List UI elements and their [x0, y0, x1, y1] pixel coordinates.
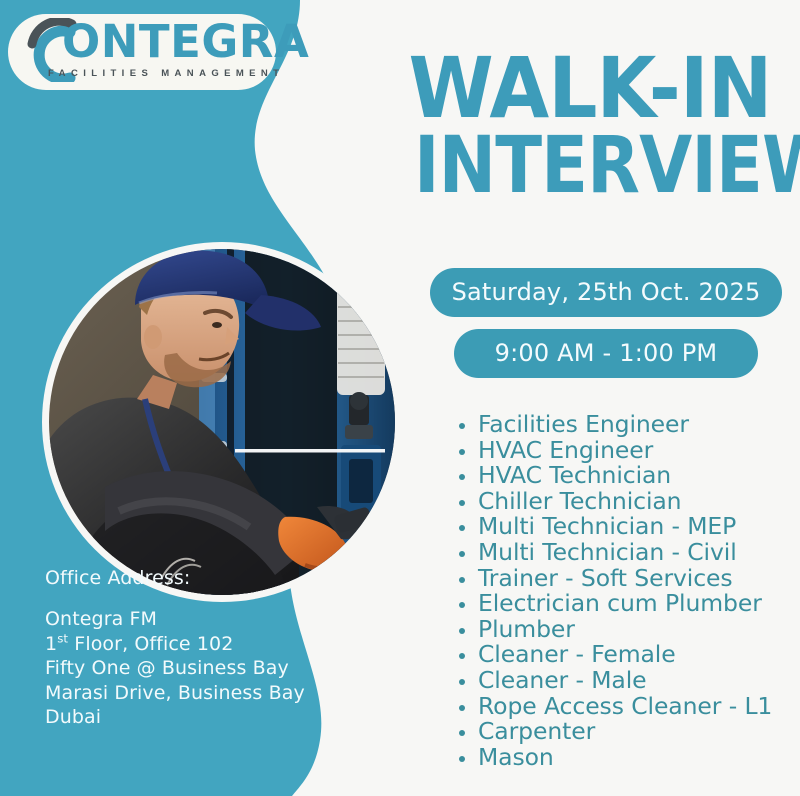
list-item: Plumber — [452, 617, 772, 643]
list-item: Multi Technician - MEP — [452, 514, 772, 540]
office-address-block: Office Address: Ontegra FM 1st Floor, Of… — [45, 566, 305, 730]
list-item: Rope Access Cleaner - L1 — [452, 694, 772, 720]
list-item: Multi Technician - Civil — [452, 540, 772, 566]
headline-line-2: INTERVIEWS — [414, 129, 766, 205]
list-item: Cleaner - Female — [452, 642, 772, 668]
list-item: HVAC Engineer — [452, 438, 772, 464]
address-line-2: 1st Floor, Office 102 — [45, 632, 305, 657]
address-label: Office Address: — [45, 566, 305, 590]
list-item: Chiller Technician — [452, 489, 772, 515]
recruitment-poster: ONTEGRA FACILITIES MANAGEMENT — [0, 0, 800, 796]
technician-photo — [49, 249, 395, 595]
logo-wordmark: ONTEGRA — [62, 17, 309, 67]
list-item: Electrician cum Plumber — [452, 591, 772, 617]
event-date-badge: Saturday, 25th Oct. 2025 — [430, 268, 782, 317]
event-time-badge: 9:00 AM - 1:00 PM — [454, 329, 758, 378]
photo-ring — [42, 242, 402, 602]
headline-line-1: WALK-IN — [406, 48, 774, 129]
page-title: WALK-IN INTERVIEWS — [390, 48, 790, 205]
address-line-5: Dubai — [45, 705, 305, 730]
list-item: Mason — [452, 745, 772, 771]
address-line-3: Fifty One @ Business Bay — [45, 656, 305, 681]
list-item: Cleaner - Male — [452, 668, 772, 694]
list-item: HVAC Technician — [452, 463, 772, 489]
company-logo: ONTEGRA FACILITIES MANAGEMENT — [8, 14, 276, 90]
job-positions-list: Facilities Engineer HVAC Engineer HVAC T… — [452, 412, 772, 770]
address-floor-rest: Floor, Office 102 — [68, 633, 233, 655]
logo-tagline: FACILITIES MANAGEMENT — [48, 68, 284, 79]
address-line-1: Ontegra FM — [45, 607, 305, 632]
list-item: Trainer - Soft Services — [452, 566, 772, 592]
address-floor-ordinal: st — [57, 631, 68, 645]
address-floor-number: 1 — [45, 633, 57, 655]
event-details: Saturday, 25th Oct. 2025 9:00 AM - 1:00 … — [430, 268, 782, 378]
list-item: Carpenter — [452, 719, 772, 745]
address-line-4: Marasi Drive, Business Bay — [45, 681, 305, 706]
list-item: Facilities Engineer — [452, 412, 772, 438]
